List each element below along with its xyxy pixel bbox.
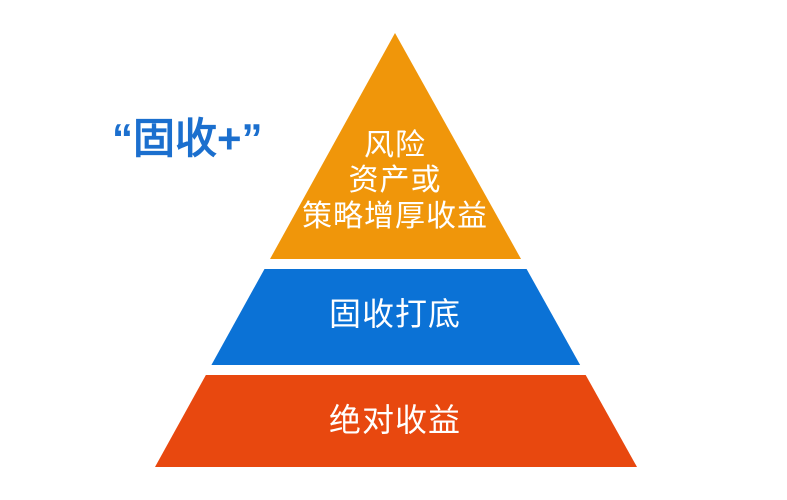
pyramid-tier-middle-shape	[211, 269, 580, 365]
pyramid-tier-bottom-shape	[155, 375, 637, 467]
pyramid-tier-top-shape	[270, 33, 521, 259]
pyramid-diagram-canvas: 风险 资产或 策略增厚收益 固收打底 绝对收益 “固收+”	[0, 0, 787, 500]
fixed-income-plus-annotation: “固收+”	[112, 118, 263, 160]
pyramid-shape-group	[0, 0, 787, 500]
